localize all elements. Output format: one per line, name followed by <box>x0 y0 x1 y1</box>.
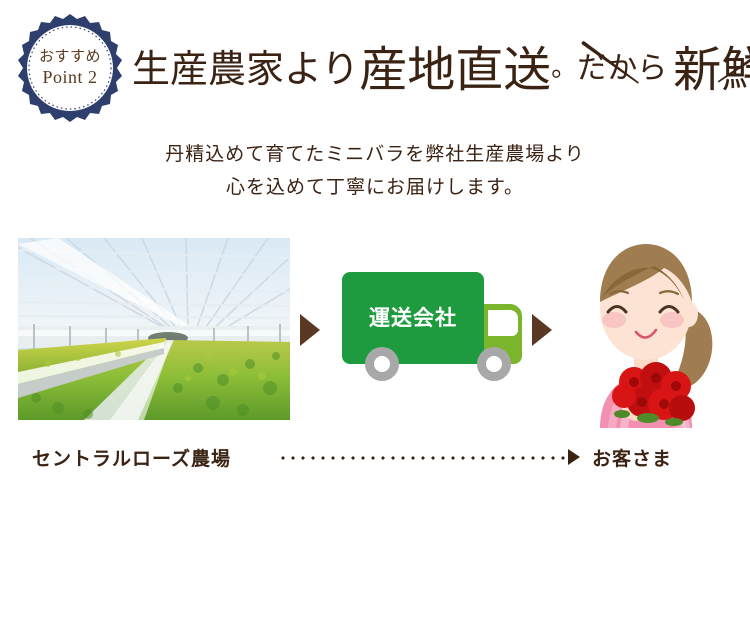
connector-arrow-icon <box>568 449 580 465</box>
flow-arrow-1-icon <box>300 314 320 346</box>
subtitle-line-2: 心を込めて丁寧にお届けします。 <box>0 171 750 204</box>
caption-farm: セントラルローズ農場 <box>32 444 231 471</box>
customer-illustration <box>556 232 736 428</box>
badge-label-bottom: Point 2 <box>42 68 97 87</box>
headline-emphasis-shinsen: 新鮮 <box>673 30 750 100</box>
headline: 生産農家より 産地直送 。 だから 新鮮 <box>132 26 742 104</box>
headline-punctuation: 。 <box>551 47 577 84</box>
headline-part1: 生産農家より <box>132 38 359 93</box>
greenhouse-photo <box>18 238 290 420</box>
point-badge: おすすめ Point 2 <box>14 12 126 124</box>
truck-company-label: 運送会社 <box>348 302 478 332</box>
flow-arrow-2-icon <box>532 314 552 346</box>
delivery-flow: 運送会社 <box>0 232 750 428</box>
subtitle: 丹精込めて育てたミニバラを弊社生産農場より 心を込めて丁寧にお届けします。 <box>0 138 750 205</box>
connector-dotted-line <box>278 456 568 460</box>
badge-label-top: おすすめ <box>39 49 101 65</box>
headline-emphasis-chokuso: 産地直送 <box>359 30 551 100</box>
delivery-truck-graphic: 運送会社 <box>338 264 528 390</box>
subtitle-line-1: 丹精込めて育てたミニバラを弊社生産農場より <box>0 138 750 171</box>
caption-customer: お客さま <box>592 444 672 471</box>
promo-banner: おすすめ Point 2 生産農家より 産地直送 。 だから 新鮮 丹精込めて育… <box>0 0 750 629</box>
